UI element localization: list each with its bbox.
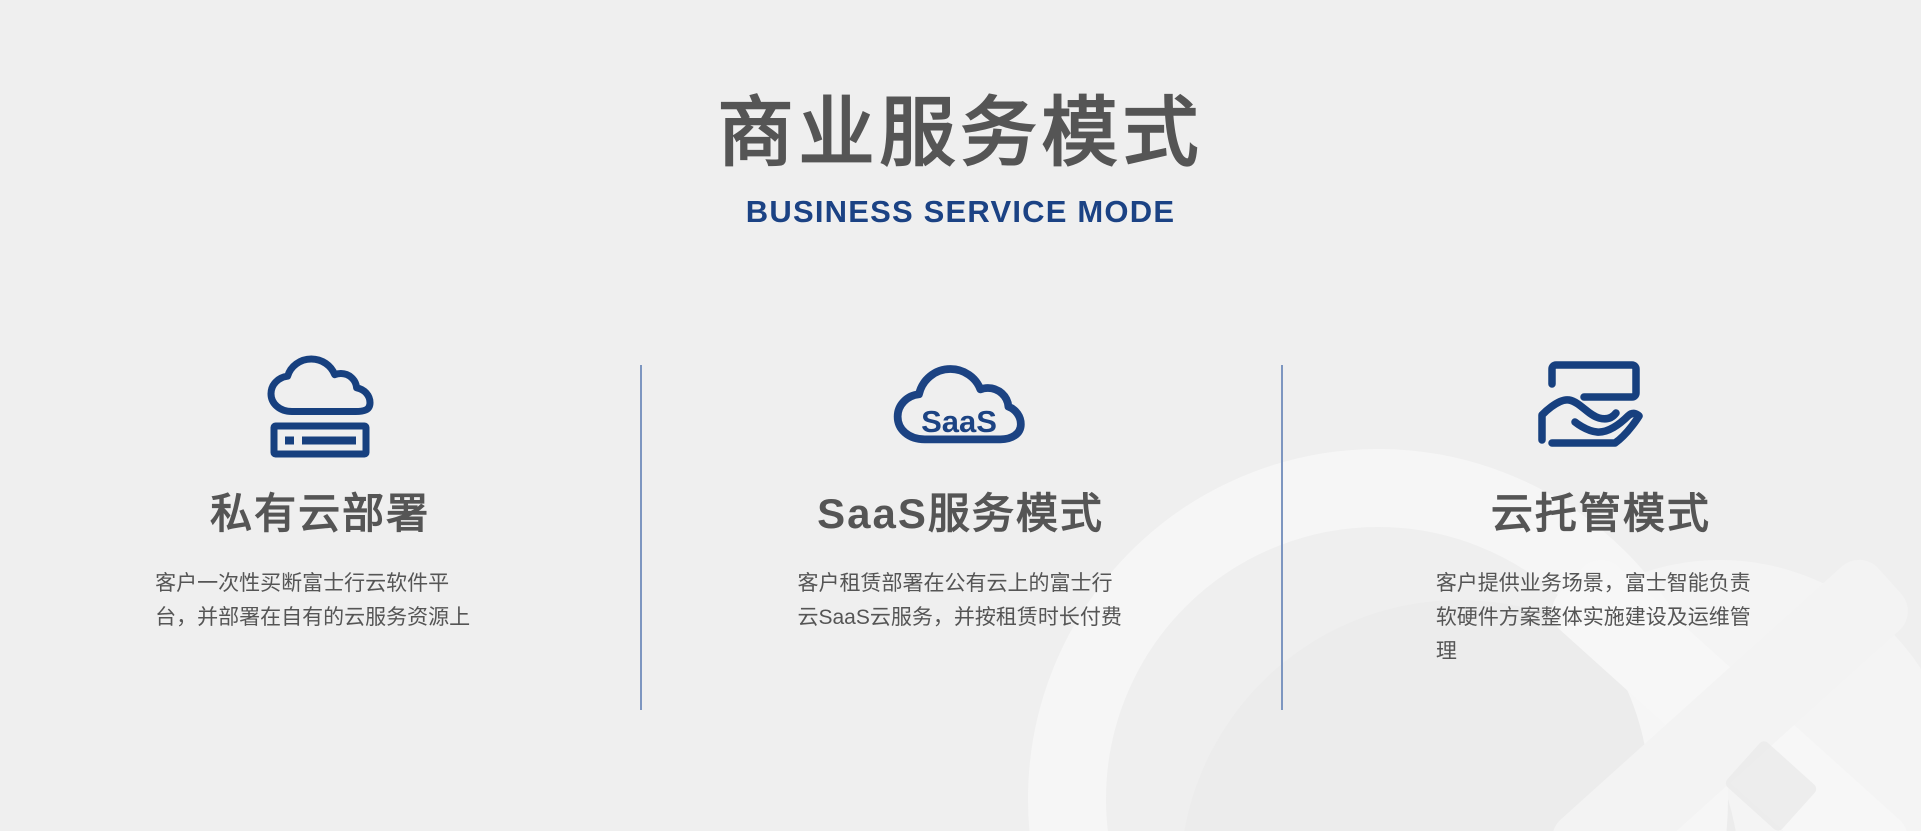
page-title: 商业服务模式	[0, 0, 1921, 172]
service-card-title: SaaS服务模式	[817, 464, 1104, 541]
cloud-server-icon	[254, 352, 386, 464]
service-card-cloud-hosting: 云托管模式 客户提供业务场景，富士智能负责软硬件方案整体实施建设及运维管理	[1281, 352, 1921, 669]
service-card-title: 云托管模式	[1491, 464, 1711, 541]
page-subtitle: BUSINESS SERVICE MODE	[0, 172, 1921, 230]
service-card-private-cloud: 私有云部署 客户一次性买断富士行云软件平台，并部署在自有的云服务资源上	[0, 352, 640, 669]
saas-icon-label: SaaS	[922, 404, 998, 439]
x-mark-notch	[1723, 739, 1818, 831]
service-mode-columns: 私有云部署 客户一次性买断富士行云软件平台，并部署在自有的云服务资源上 SaaS…	[0, 352, 1921, 669]
service-card-saas: SaaS SaaS服务模式 客户租赁部署在公有云上的富士行云SaaS云服务，并按…	[640, 352, 1280, 669]
service-card-title: 私有云部署	[210, 464, 430, 541]
section-header: 商业服务模式 BUSINESS SERVICE MODE	[0, 0, 1921, 230]
service-card-description: 客户租赁部署在公有云上的富士行云SaaS云服务，并按租赁时长付费	[797, 541, 1123, 635]
hand-holding-card-icon	[1536, 352, 1666, 464]
saas-cloud-icon: SaaS	[890, 352, 1030, 464]
business-service-mode-section: 商业服务模式 BUSINESS SERVICE MODE 私有云部署 客户一次性…	[0, 0, 1921, 831]
service-card-description: 客户一次性买断富士行云软件平台，并部署在自有的云服务资源上	[155, 541, 485, 635]
service-card-description: 客户提供业务场景，富士智能负责软硬件方案整体实施建设及运维管理	[1436, 541, 1766, 669]
